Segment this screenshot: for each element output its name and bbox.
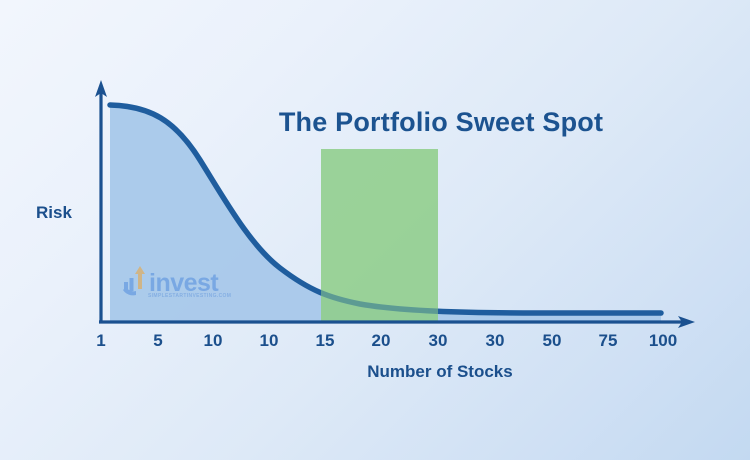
x-tick-label: 30 <box>486 331 505 351</box>
x-tick-label: 10 <box>260 331 279 351</box>
chart-graphic <box>0 0 750 460</box>
chart-canvas: The Portfolio Sweet Spot Risk Number of … <box>0 0 750 460</box>
x-tick-label: 75 <box>599 331 618 351</box>
x-tick-label: 10 <box>204 331 223 351</box>
x-tick-label: 50 <box>543 331 562 351</box>
chart-title: The Portfolio Sweet Spot <box>0 107 750 138</box>
x-tick-label: 20 <box>372 331 391 351</box>
x-axis-label: Number of Stocks <box>0 362 750 382</box>
x-tick-label: 30 <box>429 331 448 351</box>
x-tick-label: 100 <box>649 331 677 351</box>
y-axis-label: Risk <box>36 203 72 223</box>
x-tick-label: 5 <box>153 331 162 351</box>
x-tick-label: 1 <box>96 331 105 351</box>
x-tick-label: 15 <box>316 331 335 351</box>
